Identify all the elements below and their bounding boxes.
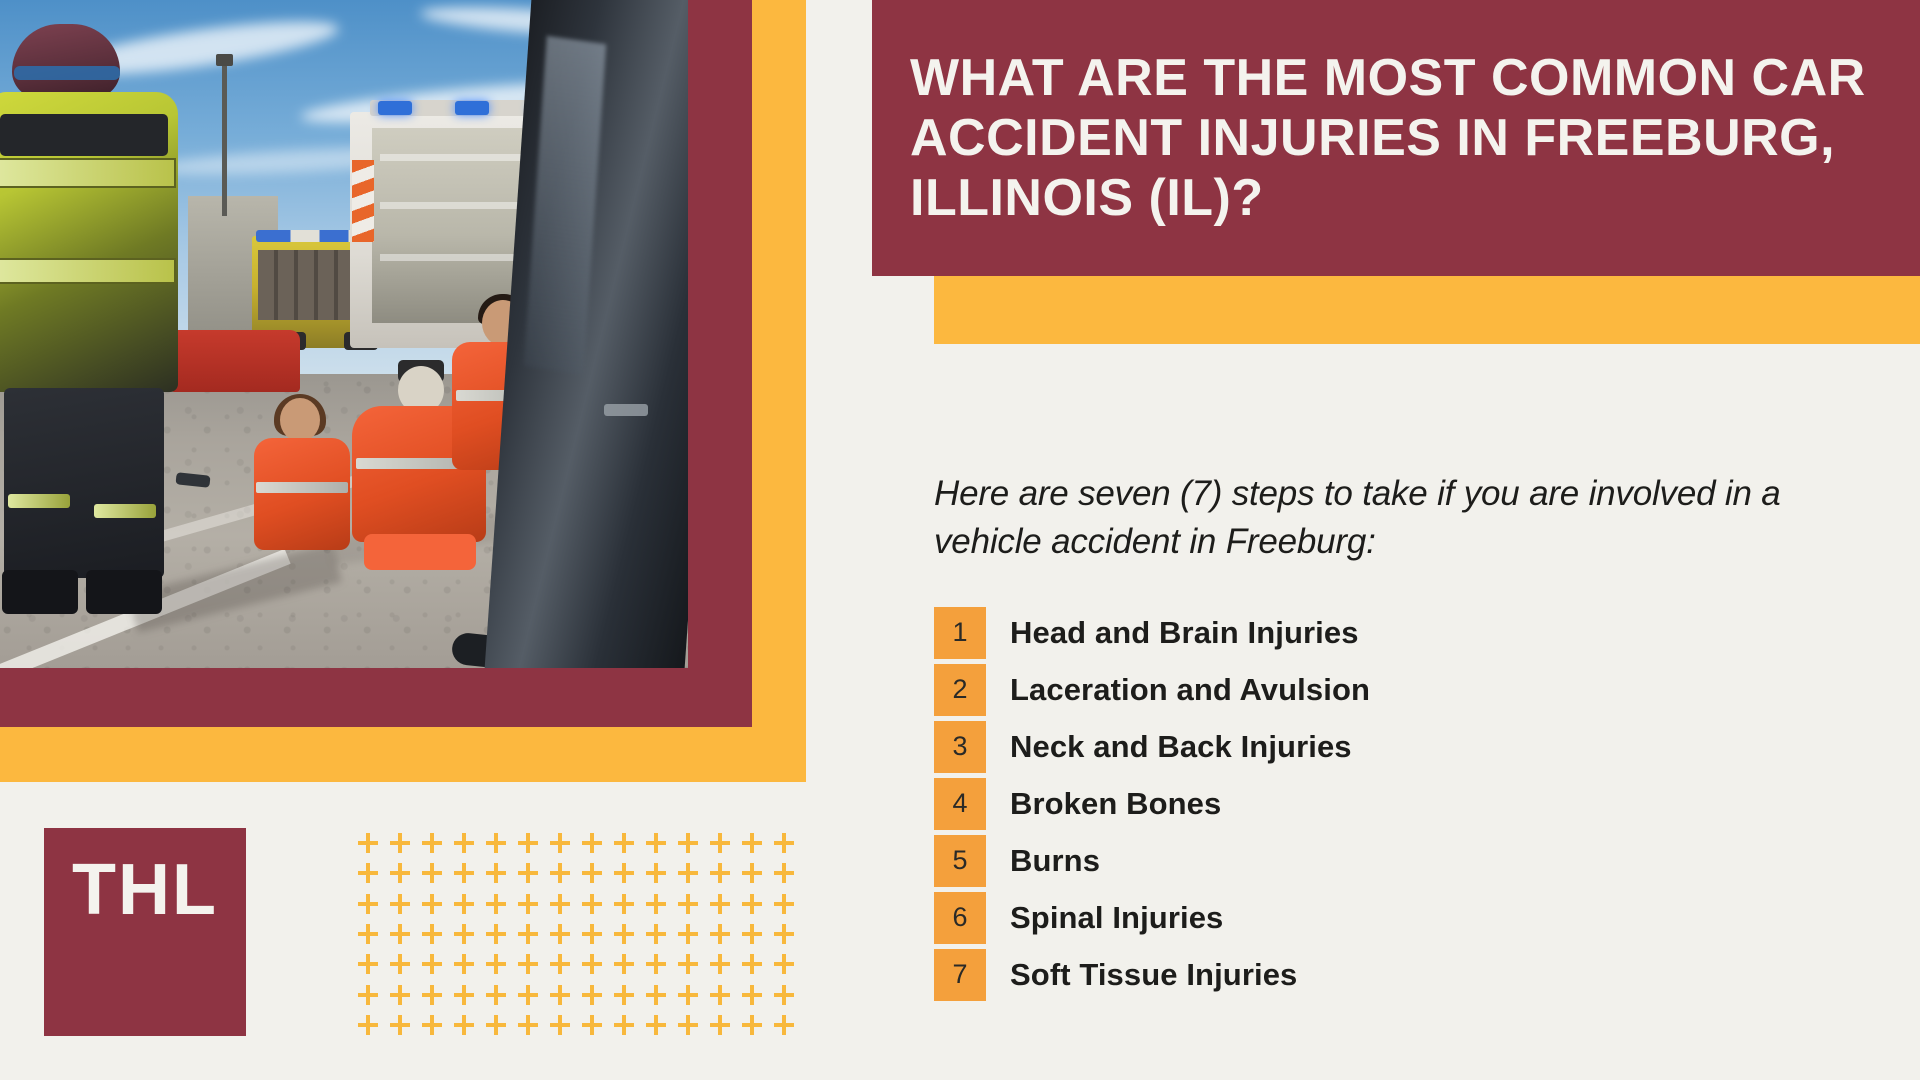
reflective-stripe — [94, 504, 156, 518]
plus-glyph — [454, 985, 474, 1005]
firefighter-helmet-band — [14, 66, 120, 80]
plus-glyph — [454, 954, 474, 974]
maroon-inner-frame — [0, 0, 752, 727]
plus-glyph — [774, 954, 794, 974]
plus-glyph — [550, 833, 570, 853]
plus-glyph — [742, 954, 762, 974]
firefighter-helmet — [12, 24, 120, 98]
emergency-light — [378, 101, 412, 115]
plus-glyph — [518, 1015, 538, 1035]
plus-glyph — [358, 954, 378, 974]
plus-glyph — [422, 985, 442, 1005]
header-accent-bar — [934, 276, 1920, 344]
plus-glyph — [422, 833, 442, 853]
plus-glyph — [678, 894, 698, 914]
plus-glyph — [518, 924, 538, 944]
thl-logo[interactable]: THL — [44, 828, 246, 1036]
plus-glyph — [454, 1015, 474, 1035]
plus-glyph — [358, 863, 378, 883]
plus-glyph — [550, 1015, 570, 1035]
plus-glyph — [518, 894, 538, 914]
plus-glyph — [422, 894, 442, 914]
reflective-stripe — [8, 494, 70, 508]
plus-glyph — [358, 833, 378, 853]
light-pole-head — [216, 54, 233, 66]
plus-glyph — [742, 833, 762, 853]
plus-glyph — [710, 985, 730, 1005]
plus-glyph — [710, 863, 730, 883]
plus-glyph — [390, 1015, 410, 1035]
plus-glyph — [582, 954, 602, 974]
plus-glyph — [678, 985, 698, 1005]
plus-glyph — [582, 985, 602, 1005]
step-item: 1Head and Brain Injuries — [934, 607, 1920, 659]
plus-glyph — [646, 924, 666, 944]
plus-glyph — [774, 1015, 794, 1035]
thl-logo-text: THL — [72, 854, 218, 926]
plus-glyph — [614, 954, 634, 974]
step-item: 6Spinal Injuries — [934, 892, 1920, 944]
plus-glyph — [358, 894, 378, 914]
step-number-badge: 4 — [934, 778, 986, 830]
step-number-badge: 3 — [934, 721, 986, 773]
step-label: Neck and Back Injuries — [986, 721, 1352, 773]
plus-glyph — [710, 954, 730, 974]
plus-glyph — [550, 954, 570, 974]
plus-glyph — [774, 894, 794, 914]
plus-glyph — [422, 954, 442, 974]
plus-glyph — [390, 985, 410, 1005]
plus-glyph — [678, 1015, 698, 1035]
plus-glyph — [678, 954, 698, 974]
plus-glyph — [518, 863, 538, 883]
step-item: 2Laceration and Avulsion — [934, 664, 1920, 716]
paramedic-head — [280, 398, 320, 442]
plus-glyph — [742, 1015, 762, 1035]
plus-glyph — [422, 924, 442, 944]
content-panel: Here are seven (7) steps to take if you … — [934, 470, 1920, 1006]
yellow-outer-frame — [0, 0, 806, 782]
plus-glyph — [518, 833, 538, 853]
firefighter-turnout-pants — [4, 388, 164, 578]
plus-glyph — [486, 954, 506, 974]
plus-glyph — [742, 894, 762, 914]
plus-glyph — [614, 894, 634, 914]
plus-glyph — [646, 863, 666, 883]
plus-glyph — [774, 924, 794, 944]
plus-glyph — [710, 894, 730, 914]
ambulance-door-stripe — [352, 160, 374, 242]
firefighter-shoulder-panel — [0, 114, 168, 156]
plus-glyph — [774, 863, 794, 883]
step-label: Soft Tissue Injuries — [986, 949, 1297, 1001]
plus-glyph — [358, 924, 378, 944]
plus-glyph — [486, 1015, 506, 1035]
step-label: Laceration and Avulsion — [986, 664, 1370, 716]
plus-glyph — [582, 863, 602, 883]
plus-glyph — [486, 985, 506, 1005]
step-number-badge: 1 — [934, 607, 986, 659]
step-item: 4Broken Bones — [934, 778, 1920, 830]
light-pole — [222, 58, 227, 216]
plus-glyph — [486, 894, 506, 914]
plus-glyph — [614, 924, 634, 944]
step-number-badge: 6 — [934, 892, 986, 944]
plus-glyph — [550, 894, 570, 914]
plus-glyph — [614, 1015, 634, 1035]
plus-glyph — [710, 924, 730, 944]
plus-glyph — [582, 833, 602, 853]
firefighter-boot — [2, 570, 78, 614]
intro-text: Here are seven (7) steps to take if you … — [934, 470, 1834, 567]
plus-glyph — [742, 985, 762, 1005]
step-label: Head and Brain Injuries — [986, 607, 1359, 659]
plus-glyph — [646, 1015, 666, 1035]
step-number-badge: 7 — [934, 949, 986, 1001]
step-item: 5Burns — [934, 835, 1920, 887]
plus-glyph — [390, 894, 410, 914]
plus-glyph — [422, 863, 442, 883]
plus-glyph — [742, 924, 762, 944]
plus-glyph — [358, 1015, 378, 1035]
header-banner: WHAT ARE THE MOST COMMON CAR ACCIDENT IN… — [872, 0, 1920, 276]
plus-glyph — [550, 863, 570, 883]
plus-glyph — [358, 985, 378, 1005]
plus-glyph — [646, 954, 666, 974]
step-label: Burns — [986, 835, 1100, 887]
plus-glyph — [710, 833, 730, 853]
plus-glyph — [454, 833, 474, 853]
reflective-stripe — [0, 258, 176, 284]
emergency-light — [455, 101, 489, 115]
left-visual-panel — [0, 0, 810, 790]
paramedic-leg — [364, 534, 476, 570]
step-item: 7Soft Tissue Injuries — [934, 949, 1920, 1001]
page-title: WHAT ARE THE MOST COMMON CAR ACCIDENT IN… — [872, 48, 1920, 229]
plus-glyph — [614, 833, 634, 853]
plus-glyph — [390, 863, 410, 883]
plus-glyph — [486, 863, 506, 883]
plus-glyph — [518, 985, 538, 1005]
plus-glyph — [518, 954, 538, 974]
plus-glyph — [774, 985, 794, 1005]
reflective-stripe — [256, 482, 348, 493]
plus-glyph — [486, 924, 506, 944]
plus-glyph — [390, 924, 410, 944]
plus-glyph — [422, 1015, 442, 1035]
plus-glyph — [454, 894, 474, 914]
plus-glyph — [454, 924, 474, 944]
plus-glyph — [678, 833, 698, 853]
firefighter-foreground — [0, 18, 200, 618]
plus-glyph — [742, 863, 762, 883]
plus-glyph — [390, 954, 410, 974]
plus-glyph — [646, 985, 666, 1005]
plus-glyph — [678, 863, 698, 883]
plus-glyph — [774, 833, 794, 853]
plus-pattern-decoration — [352, 828, 800, 1040]
step-number-badge: 5 — [934, 835, 986, 887]
plus-glyph — [678, 924, 698, 944]
step-label: Broken Bones — [986, 778, 1221, 830]
paramedic-uniform — [254, 438, 350, 550]
plus-glyph — [454, 863, 474, 883]
paramedic-kneeling-left — [248, 398, 354, 568]
plus-glyph — [486, 833, 506, 853]
reflective-stripe — [0, 158, 176, 188]
accident-scene-photo — [0, 0, 688, 668]
plus-glyph — [550, 985, 570, 1005]
step-item: 3Neck and Back Injuries — [934, 721, 1920, 773]
firefighter-boot — [86, 570, 162, 614]
plus-glyph — [582, 924, 602, 944]
plus-glyph — [550, 924, 570, 944]
car-door-handle — [604, 404, 648, 416]
plus-glyph — [582, 1015, 602, 1035]
plus-glyph — [646, 894, 666, 914]
plus-glyph — [710, 1015, 730, 1035]
step-label: Spinal Injuries — [986, 892, 1223, 944]
plus-glyph — [390, 833, 410, 853]
step-number-badge: 2 — [934, 664, 986, 716]
plus-glyph — [646, 833, 666, 853]
plus-glyph — [582, 894, 602, 914]
plus-glyph — [614, 863, 634, 883]
plus-glyph — [614, 985, 634, 1005]
steps-list: 1Head and Brain Injuries2Laceration and … — [934, 607, 1920, 1001]
